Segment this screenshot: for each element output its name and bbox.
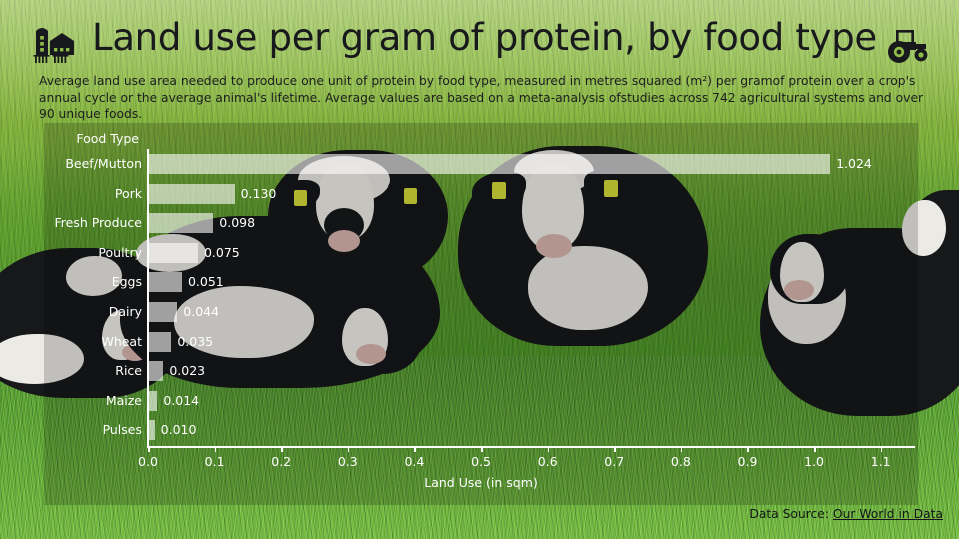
bar-row: Rice0.023 bbox=[44, 358, 918, 384]
bar-row: Maize0.014 bbox=[44, 388, 918, 414]
bar-category-label: Poultry bbox=[44, 240, 142, 266]
tractor-icon bbox=[874, 24, 932, 68]
x-tick-label: 0.2 bbox=[271, 454, 291, 469]
bar-value-label: 0.014 bbox=[163, 388, 199, 414]
bar[interactable] bbox=[148, 272, 182, 292]
bar-row: Beef/Mutton1.024 bbox=[44, 151, 918, 177]
chart-panel: Food Type Beef/Mutton1.024Pork0.130Fresh… bbox=[44, 123, 918, 505]
bar-row: Eggs0.051 bbox=[44, 269, 918, 295]
bar-category-label: Rice bbox=[44, 358, 142, 384]
bar-category-label: Fresh Produce bbox=[44, 210, 142, 236]
bar[interactable] bbox=[148, 420, 155, 440]
x-tick-label: 0.3 bbox=[338, 454, 358, 469]
x-tick-label: 0.9 bbox=[738, 454, 758, 469]
x-axis-line bbox=[147, 446, 915, 448]
bar-value-label: 0.023 bbox=[169, 358, 205, 384]
x-tick-mark bbox=[481, 446, 483, 452]
bar-value-label: 0.044 bbox=[183, 299, 219, 325]
bar-category-label: Wheat bbox=[44, 329, 142, 355]
x-tick-mark bbox=[148, 446, 150, 452]
x-tick-label: 0.1 bbox=[205, 454, 225, 469]
bar-row: Dairy0.044 bbox=[44, 299, 918, 325]
page-subtitle: Average land use area needed to produce … bbox=[39, 73, 929, 123]
bar-category-label: Eggs bbox=[44, 269, 142, 295]
bar-category-label: Pork bbox=[44, 181, 142, 207]
bar-category-label: Dairy bbox=[44, 299, 142, 325]
bar-row: Pork0.130 bbox=[44, 181, 918, 207]
bar-row: Pulses0.010 bbox=[44, 417, 918, 443]
bar-value-label: 0.051 bbox=[188, 269, 224, 295]
x-tick-label: 0.7 bbox=[604, 454, 624, 469]
bar[interactable] bbox=[148, 184, 235, 204]
x-tick-mark bbox=[348, 446, 350, 452]
bar-category-label: Maize bbox=[44, 388, 142, 414]
data-source-link[interactable]: Our World in Data bbox=[833, 507, 943, 521]
bar[interactable] bbox=[148, 154, 830, 174]
page-title: Land use per gram of protein, by food ty… bbox=[92, 16, 877, 60]
bar-row: Fresh Produce0.098 bbox=[44, 210, 918, 236]
bar-row: Poultry0.075 bbox=[44, 240, 918, 266]
x-tick-label: 0.5 bbox=[471, 454, 491, 469]
bar-chart-plot: Food Type Beef/Mutton1.024Pork0.130Fresh… bbox=[44, 123, 918, 505]
bar-value-label: 0.098 bbox=[219, 210, 255, 236]
x-tick-label: 0.8 bbox=[671, 454, 691, 469]
x-tick-label: 0.0 bbox=[138, 454, 158, 469]
bar-value-label: 0.075 bbox=[204, 240, 240, 266]
x-tick-mark bbox=[681, 446, 683, 452]
data-source: Data Source: Our World in Data bbox=[731, 506, 943, 523]
farm-barn-icon bbox=[30, 22, 88, 68]
x-tick-label: 1.0 bbox=[804, 454, 824, 469]
bar-value-label: 0.035 bbox=[177, 329, 213, 355]
x-tick-label: 0.6 bbox=[538, 454, 558, 469]
bar[interactable] bbox=[148, 332, 171, 352]
x-tick-mark bbox=[414, 446, 416, 452]
x-tick-mark bbox=[881, 446, 883, 452]
x-tick-mark bbox=[548, 446, 550, 452]
bar[interactable] bbox=[148, 213, 213, 233]
bar-category-label: Pulses bbox=[44, 417, 142, 443]
x-tick-mark bbox=[281, 446, 283, 452]
x-tick-label: 1.1 bbox=[871, 454, 891, 469]
bar-value-label: 0.010 bbox=[161, 417, 197, 443]
x-tick-mark bbox=[814, 446, 816, 452]
x-tick-mark bbox=[614, 446, 616, 452]
y-axis-title: Food Type bbox=[76, 131, 139, 146]
bar-category-label: Beef/Mutton bbox=[44, 151, 142, 177]
x-tick-mark bbox=[747, 446, 749, 452]
infographic-root: Land use per gram of protein, by food ty… bbox=[0, 0, 959, 539]
x-axis-title: Land Use (in sqm) bbox=[44, 475, 918, 490]
bar[interactable] bbox=[148, 243, 198, 263]
data-source-label: Data Source: bbox=[749, 507, 833, 521]
bar[interactable] bbox=[148, 391, 157, 411]
x-tick-label: 0.4 bbox=[404, 454, 424, 469]
bar[interactable] bbox=[148, 361, 163, 381]
bar-row: Wheat0.035 bbox=[44, 329, 918, 355]
bar[interactable] bbox=[148, 302, 177, 322]
bar-value-label: 1.024 bbox=[836, 151, 872, 177]
bar-value-label: 0.130 bbox=[241, 181, 277, 207]
x-tick-mark bbox=[215, 446, 217, 452]
